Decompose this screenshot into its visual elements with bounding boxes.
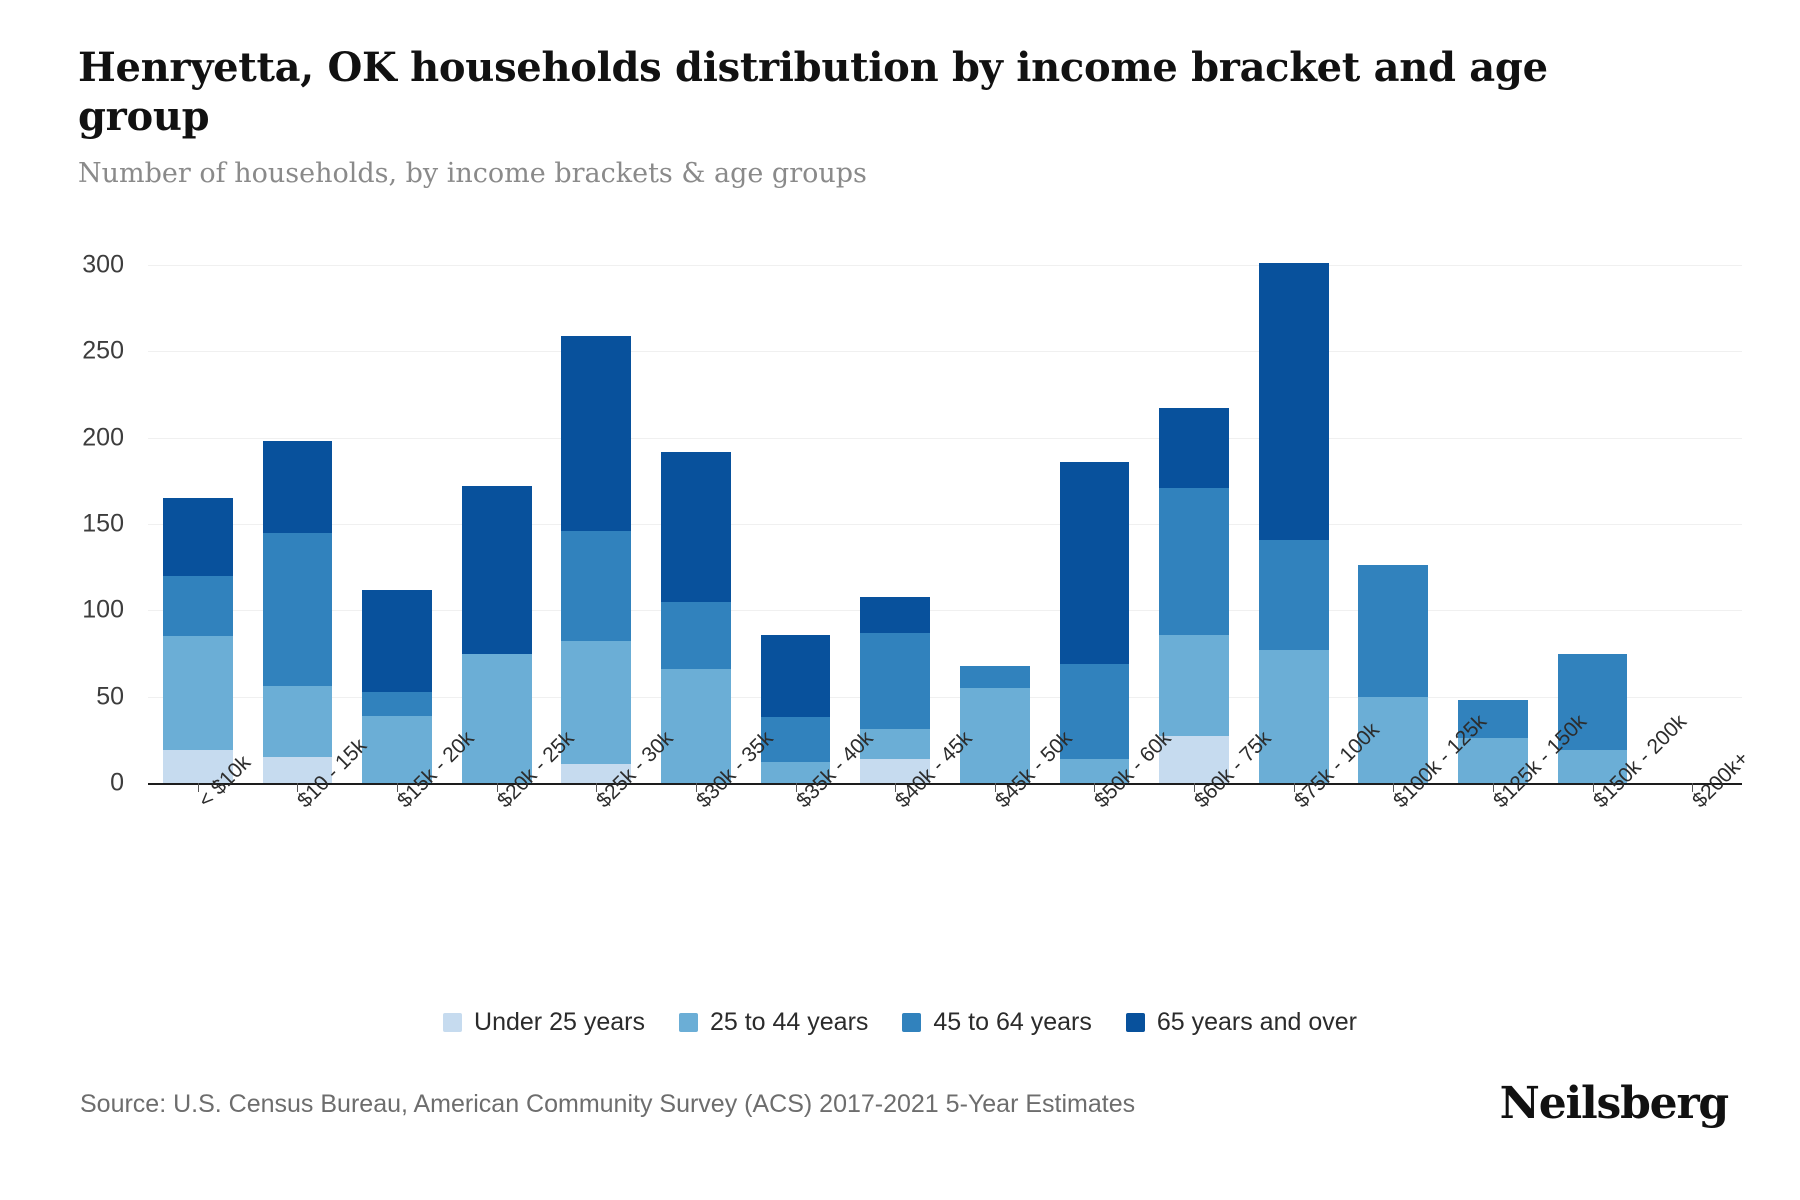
gridline	[148, 265, 1742, 266]
bar-segment[interactable]	[1159, 408, 1229, 487]
legend-swatch-icon	[443, 1013, 462, 1032]
y-axis-tick-label: 50	[4, 682, 124, 711]
bar-segment[interactable]	[561, 531, 631, 642]
gridline	[148, 524, 1742, 525]
bar-segment[interactable]	[860, 633, 930, 730]
legend-label: 65 years and over	[1157, 1008, 1357, 1037]
bar-segment[interactable]	[163, 636, 233, 750]
legend-item[interactable]: Under 25 years	[443, 1008, 645, 1037]
source-note: Source: U.S. Census Bureau, American Com…	[80, 1090, 1135, 1119]
bar-segment[interactable]	[661, 452, 731, 602]
bar-segment[interactable]	[1159, 635, 1229, 737]
bar-segment[interactable]	[1259, 650, 1329, 783]
bar-stack[interactable]	[1060, 462, 1130, 783]
y-axis-tick-label: 200	[4, 423, 124, 452]
bar-stack[interactable]	[1259, 263, 1329, 783]
bar-segment[interactable]	[1159, 488, 1229, 635]
bar-segment[interactable]	[263, 441, 333, 533]
bar-stack[interactable]	[263, 441, 333, 783]
bar-segment[interactable]	[561, 336, 631, 531]
bar-segment[interactable]	[1259, 263, 1329, 539]
bar-segment[interactable]	[761, 635, 831, 718]
bar-segment[interactable]	[263, 686, 333, 757]
bar-segment[interactable]	[362, 590, 432, 692]
bar-segment[interactable]	[462, 486, 532, 653]
bar-segment[interactable]	[1358, 565, 1428, 696]
legend-item[interactable]: 65 years and over	[1126, 1008, 1357, 1037]
legend-label: 25 to 44 years	[710, 1008, 868, 1037]
y-axis-tick-label: 150	[4, 510, 124, 539]
bar-segment[interactable]	[860, 597, 930, 633]
y-axis-tick-label: 300	[4, 251, 124, 280]
chart-legend: Under 25 years25 to 44 years45 to 64 yea…	[0, 1008, 1800, 1037]
legend-swatch-icon	[902, 1013, 921, 1032]
legend-item[interactable]: 45 to 64 years	[902, 1008, 1091, 1037]
bar-segment[interactable]	[960, 666, 1030, 688]
bar-stack[interactable]	[1159, 408, 1229, 783]
gridline	[148, 351, 1742, 352]
bars-and-grid	[148, 265, 1742, 783]
bar-stack[interactable]	[860, 597, 930, 783]
legend-label: Under 25 years	[474, 1008, 645, 1037]
gridline	[148, 438, 1742, 439]
bar-segment[interactable]	[163, 498, 233, 576]
bar-stack[interactable]	[960, 666, 1030, 783]
legend-swatch-icon	[679, 1013, 698, 1032]
bar-segment[interactable]	[1259, 540, 1329, 651]
bar-stack[interactable]	[661, 452, 731, 784]
bar-stack[interactable]	[163, 498, 233, 783]
y-axis-tick-label: 100	[4, 596, 124, 625]
brand-logo: Neilsberg	[1500, 1078, 1728, 1129]
bar-stack[interactable]	[561, 336, 631, 783]
bar-stack[interactable]	[761, 635, 831, 783]
bar-stack[interactable]	[362, 590, 432, 783]
legend-swatch-icon	[1126, 1013, 1145, 1032]
bar-segment[interactable]	[661, 602, 731, 669]
bar-segment[interactable]	[362, 692, 432, 716]
y-axis-tick-label: 250	[4, 337, 124, 366]
bar-segment[interactable]	[163, 576, 233, 636]
bar-segment[interactable]	[263, 533, 333, 687]
bar-segment[interactable]	[1060, 462, 1130, 664]
y-axis-tick-label: 0	[4, 769, 124, 798]
bar-segment[interactable]	[462, 654, 532, 784]
legend-label: 45 to 64 years	[933, 1008, 1091, 1037]
legend-item[interactable]: 25 to 44 years	[679, 1008, 868, 1037]
